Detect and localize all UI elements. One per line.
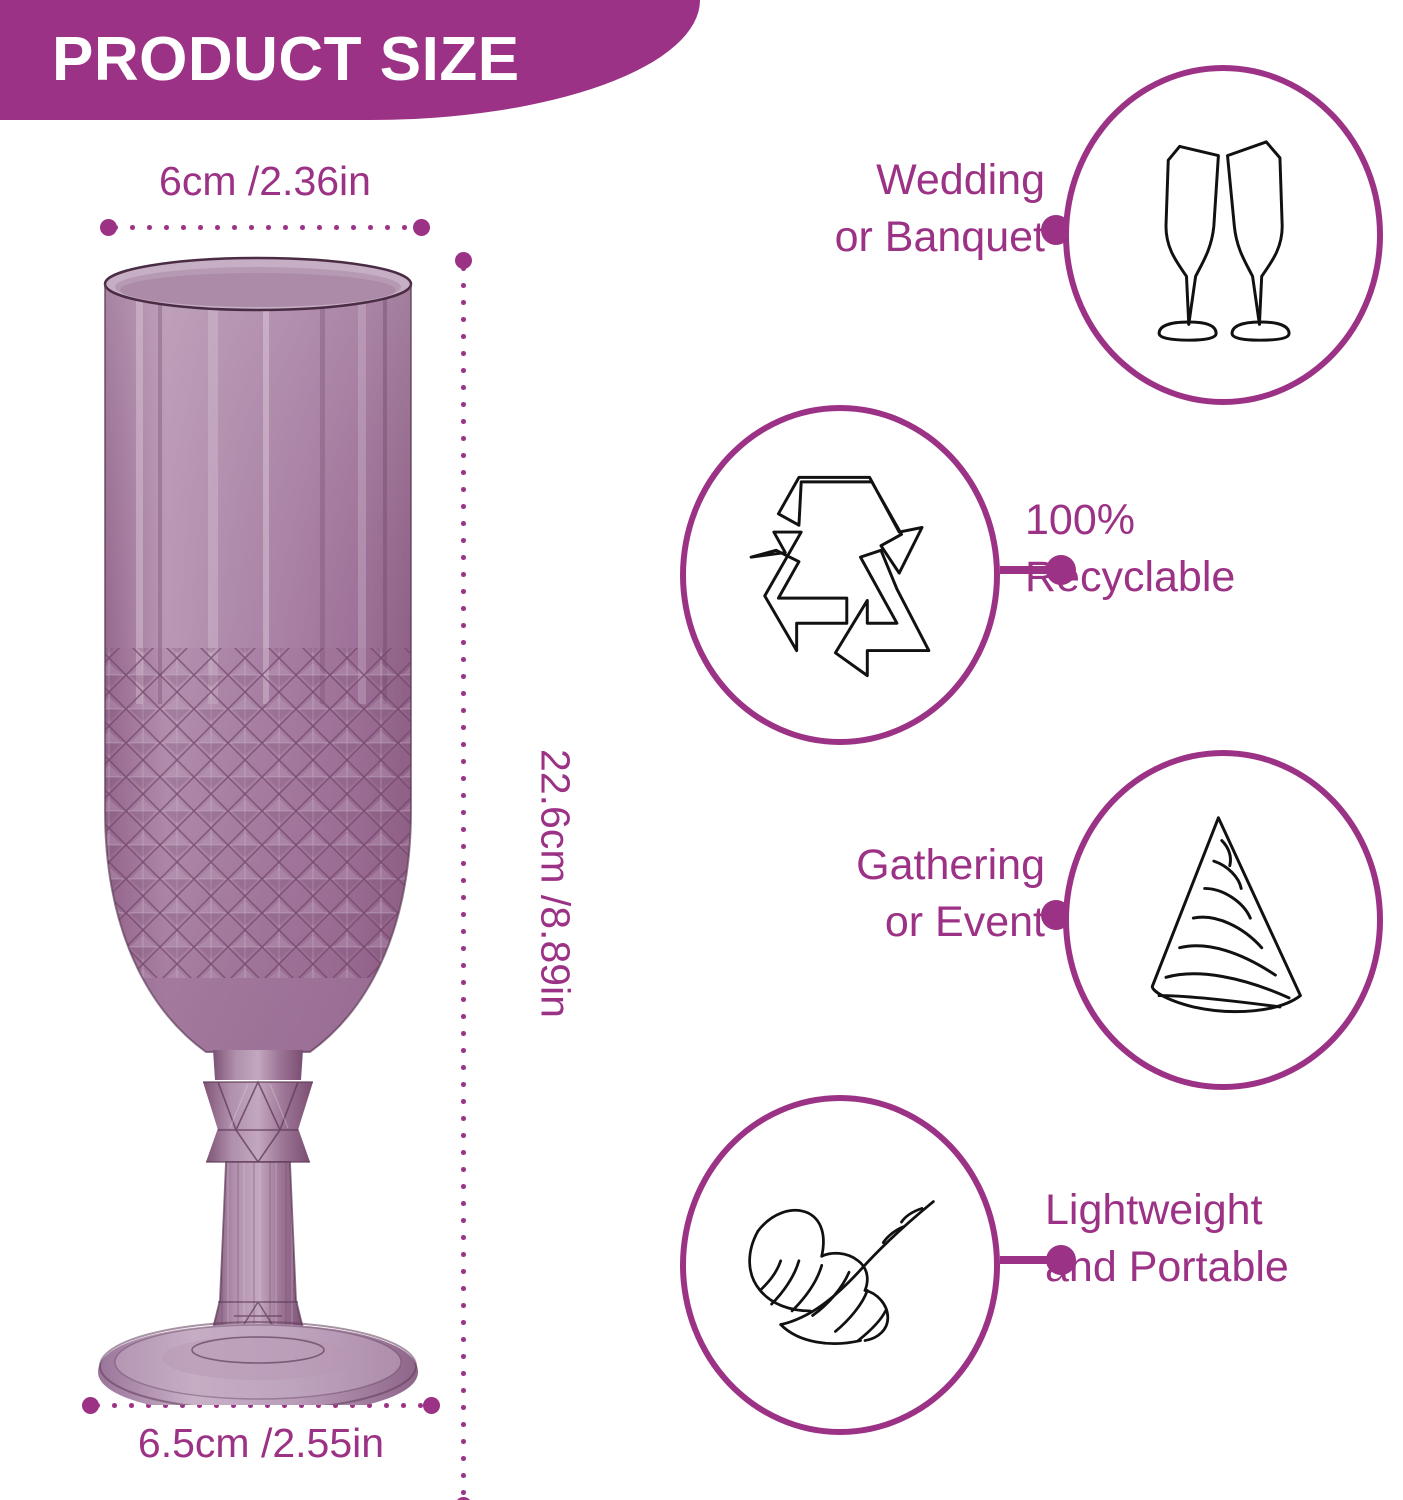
feature-bubble-wedding (1063, 65, 1383, 405)
feature-label-line1: Gathering (856, 841, 1045, 889)
feather-icon (726, 1144, 954, 1387)
header-banner: PRODUCT SIZE (0, 0, 700, 120)
feature-recyclable: 100% Recyclable (660, 400, 1403, 750)
base-width-label: 6.5cm /2.55in (82, 1420, 440, 1467)
toasting-champagne-glasses-icon (1109, 114, 1337, 357)
recycle-symbol-icon (726, 454, 954, 697)
dimension-dotted-line (461, 260, 466, 1500)
feature-wedding-or-banquet: Wedding or Banquet (660, 60, 1403, 410)
dimension-dotted-line (107, 225, 423, 230)
feature-label-recyclable: 100% Recyclable (1025, 492, 1355, 606)
height-label: 22.6cm /8.89in (532, 674, 579, 1094)
party-hat-icon (1109, 799, 1337, 1042)
feature-label-line2: or Banquet (715, 209, 1045, 266)
feature-bubble-lightweight (680, 1095, 1000, 1435)
feature-label-gathering: Gathering or Event (715, 837, 1045, 951)
feature-label-line2: Recyclable (1025, 549, 1355, 606)
feature-bubble-gathering (1063, 750, 1383, 1090)
feature-label-line1: Wedding (876, 156, 1045, 204)
dimension-endpoint-dot (413, 219, 430, 236)
product-size-infographic: PRODUCT SIZE 6cm /2.36in 22.6cm /8.89in … (0, 0, 1403, 1500)
feature-label-line2: and Portable (1045, 1239, 1375, 1296)
feature-gathering-or-event: Gathering or Event (660, 745, 1403, 1095)
feature-label-line1: Lightweight (1045, 1186, 1263, 1234)
rim-width-label: 6cm /2.36in (100, 158, 430, 205)
page-title: PRODUCT SIZE (52, 29, 520, 91)
feature-label-line1: 100% (1025, 496, 1135, 544)
feature-bubble-recyclable (680, 405, 1000, 745)
feature-label-line2: or Event (715, 894, 1045, 951)
feature-list: Wedding or Banquet (660, 0, 1403, 1500)
rim-width-dimension-line (100, 220, 430, 234)
feature-label-lightweight: Lightweight and Portable (1045, 1182, 1375, 1296)
feature-label-wedding: Wedding or Banquet (715, 152, 1045, 266)
feature-lightweight-portable: Lightweight and Portable (660, 1090, 1403, 1440)
champagne-flute-glass-icon (58, 250, 458, 1405)
product-dimension-area: 6cm /2.36in 22.6cm /8.89in 6.5cm /2.55in (0, 120, 660, 1500)
